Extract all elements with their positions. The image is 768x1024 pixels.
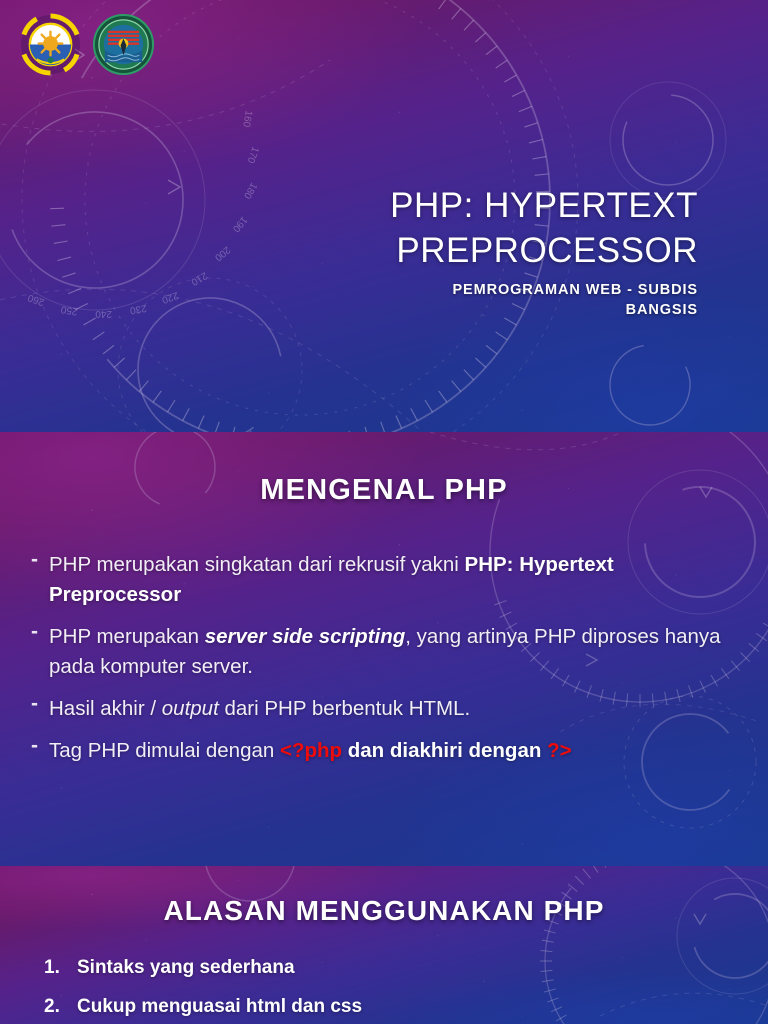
bullet-text: Hasil akhir / output dari PHP berbentuk … [49, 694, 470, 724]
list-item: - PHP merupakan server side scripting, y… [31, 622, 728, 682]
list-item: 2. Cukup menguasai html dan css [44, 993, 728, 1020]
slide-alasan-menggunakan-php: ALASAN MENGGUNAKAN PHP 1. Sintaks yang s… [0, 866, 768, 1024]
slide-title: 160 170 180 190 200 210 220 230 240 250 … [0, 0, 768, 432]
organization-emblems [19, 13, 155, 76]
numbered-list-alasan: 1. Sintaks yang sederhana 2. Cukup mengu… [44, 954, 728, 1024]
list-item: - PHP merupakan singkatan dari rekrusif … [31, 550, 728, 610]
list-item-number: 2. [44, 993, 77, 1020]
section-heading-mengenal: MENGENAL PHP [0, 474, 768, 507]
slide-mengenal-php: MENGENAL PHP - PHP merupakan singkatan d… [0, 432, 768, 866]
emblem-yellow-sun-crest-icon [19, 13, 82, 76]
bullet-dash-icon: - [31, 622, 49, 682]
list-item-number: 1. [44, 954, 77, 981]
list-item: 1. Sintaks yang sederhana [44, 954, 728, 981]
list-item: - Tag PHP dimulai dengan <?php dan diakh… [31, 736, 728, 766]
list-item-label: Sintaks yang sederhana [77, 954, 295, 981]
subtitle-line-2: BANGSIS [98, 300, 698, 320]
emblem-green-teal-crest-icon [92, 13, 155, 76]
title-line-2: PREPROCESSOR [98, 228, 698, 273]
slide-deck: 160 170 180 190 200 210 220 230 240 250 … [0, 0, 768, 1024]
bullet-text: PHP merupakan server side scripting, yan… [49, 622, 728, 682]
bullet-list-mengenal: - PHP merupakan singkatan dari rekrusif … [31, 550, 728, 778]
title-block: PHP: HYPERTEXT PREPROCESSOR PEMROGRAMAN … [98, 183, 698, 320]
bullet-dash-icon: - [31, 550, 49, 610]
bullet-text: PHP merupakan singkatan dari rekrusif ya… [49, 550, 728, 610]
subtitle-line-1: PEMROGRAMAN WEB - SUBDIS [98, 280, 698, 300]
bullet-dash-icon: - [31, 694, 49, 724]
section-heading-alasan: ALASAN MENGGUNAKAN PHP [0, 895, 768, 927]
bullet-dash-icon: - [31, 736, 49, 766]
bullet-text: Tag PHP dimulai dengan <?php dan diakhir… [49, 736, 572, 766]
list-item-label: Cukup menguasai html dan css [77, 993, 362, 1020]
title-line-1: PHP: HYPERTEXT [98, 183, 698, 228]
list-item: - Hasil akhir / output dari PHP berbentu… [31, 694, 728, 724]
